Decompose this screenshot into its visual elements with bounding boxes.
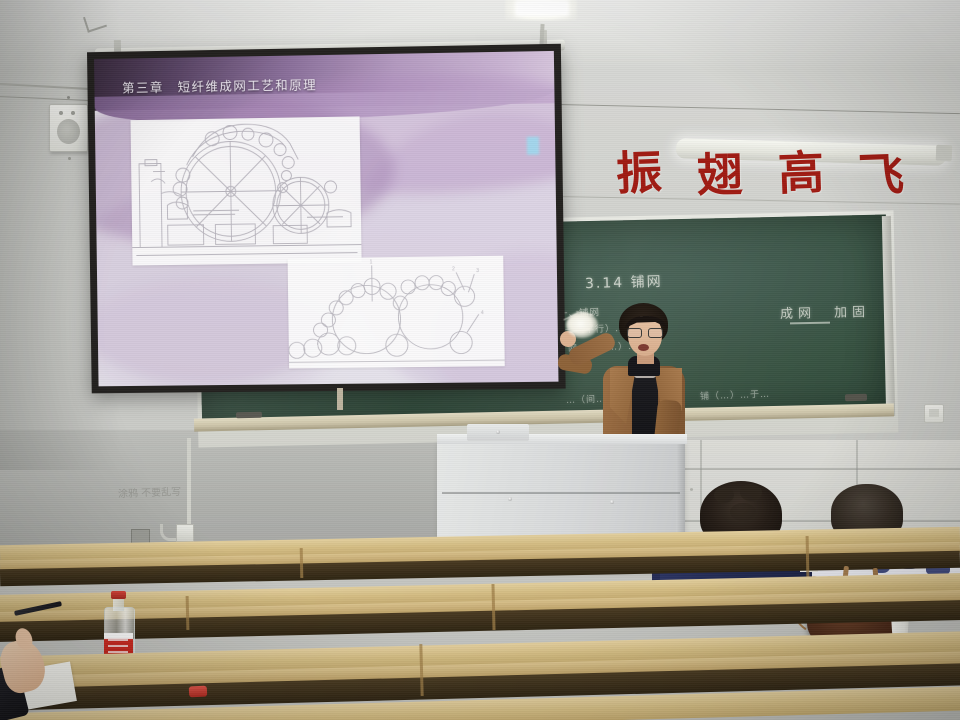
- wall-calligraphy-char: 高: [777, 149, 825, 197]
- instructor-mouth: [638, 344, 649, 351]
- wall-calligraphy-char: 翅: [697, 152, 744, 199]
- speaker-screw: [59, 111, 63, 115]
- svg-text:1: 1: [370, 259, 373, 265]
- chalk-tray-eraser: [236, 412, 262, 419]
- chalk-tray-eraser: [845, 394, 867, 401]
- eyeglass-lens: [648, 328, 663, 338]
- light-switch-rocker[interactable]: [929, 409, 939, 417]
- speaker-cone-icon: [57, 119, 80, 144]
- slide-title-text: 第三章 短纤维成网工艺和原理: [122, 74, 317, 96]
- screen-support-pole: [337, 388, 343, 410]
- slide-figure-roller-schematic: 1 2 3 4: [288, 256, 505, 369]
- wall-speaker: [49, 104, 88, 152]
- fluorescent-tube-endcap: [936, 145, 953, 162]
- blackboard-right-note: 成网 加固: [780, 301, 870, 322]
- wall-conduit-pipe: [187, 438, 191, 528]
- wall-outlet: [176, 524, 194, 542]
- projector-screen: 第三章 短纤维成网工艺和原理: [87, 44, 566, 394]
- lectern-screw: [496, 430, 500, 434]
- bottle-cap: [111, 591, 126, 599]
- wall-nail: [68, 157, 71, 160]
- bottle-neck: [113, 597, 124, 611]
- carding-machine-drawing-icon: [131, 116, 362, 265]
- desk-joint: [300, 548, 304, 578]
- wall-calligraphy-char: 飞: [857, 151, 905, 199]
- eyeglasses-icon: [627, 328, 663, 337]
- wall-calligraphy-char: 振: [615, 149, 663, 197]
- lectern-screw: [610, 500, 614, 504]
- speaker-screw: [71, 111, 75, 115]
- blackboard-note-line: 铺（…）…于…: [700, 387, 770, 402]
- light-switch[interactable]: [924, 404, 944, 423]
- wall-mark: [690, 488, 693, 491]
- slide-figure-carding-machine: [131, 116, 362, 265]
- blackboard-heading: 3.14 铺网: [585, 271, 663, 293]
- roller-schematic-icon: 1 2 3 4: [288, 256, 505, 369]
- wall-graffiti: 涂鸦 不要乱写: [118, 487, 182, 502]
- svg-text:3: 3: [476, 268, 479, 274]
- eyeglass-lens: [627, 328, 642, 338]
- projection-artifact: [527, 137, 539, 155]
- lectern-panel-seam: [442, 492, 680, 494]
- hair-curl: [740, 484, 762, 501]
- ceiling-light-fixture: [515, 0, 569, 16]
- lectern-screw: [508, 497, 512, 501]
- loose-bottle-cap: [189, 686, 208, 698]
- svg-text:4: 4: [481, 310, 484, 316]
- classroom-photo: 3.14 铺网 成网 加固 一、铺网 一（平行）… 网、…（…）… …（间…）……: [0, 0, 960, 720]
- svg-text:2: 2: [452, 266, 455, 272]
- hair-curl: [730, 503, 756, 521]
- lectern-control-box: [467, 424, 529, 441]
- projected-slide: 第三章 短纤维成网工艺和原理: [94, 51, 558, 386]
- hair-curl: [714, 487, 734, 503]
